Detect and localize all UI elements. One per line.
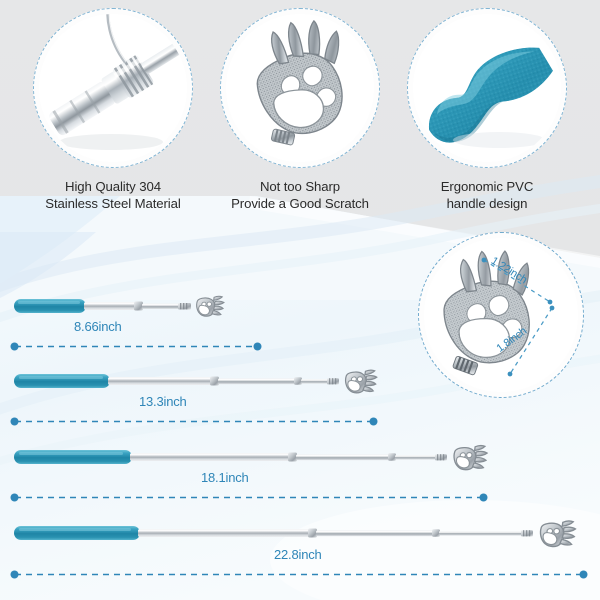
backscratcher-1-illustration xyxy=(14,286,266,326)
feature-circle-row: High Quality 304 Stainless Steel Materia… xyxy=(0,8,600,223)
scratcher-3-length-label: 18.1inch xyxy=(201,470,249,485)
backscratcher-2 xyxy=(14,361,382,401)
scratcher-1-length-label: 8.66inch xyxy=(74,319,122,334)
scratcher-2-length-label: 13.3inch xyxy=(139,394,187,409)
measure-line-4-svg xyxy=(10,570,588,579)
measure-line-1-svg xyxy=(10,342,262,351)
measure-line-2-svg xyxy=(10,417,378,426)
backscratcher-1 xyxy=(14,286,266,326)
scratcher-2-measure-line xyxy=(10,417,378,426)
feature-label-2: Not too Sharp Provide a Good Scratch xyxy=(207,178,393,213)
claw-dimensions-circle: 1.22inch 1.8inch xyxy=(418,232,584,398)
feature-label-2-line2: Provide a Good Scratch xyxy=(231,196,369,211)
feature-stainless-steel: High Quality 304 Stainless Steel Materia… xyxy=(20,8,206,213)
backscratcher-3-illustration xyxy=(14,437,492,477)
feature-label-1-line2: Stainless Steel Material xyxy=(45,196,180,211)
bear-claw-head-photo xyxy=(226,14,374,162)
scratcher-3-measure-line xyxy=(10,493,488,502)
feature-circle-3 xyxy=(407,8,567,168)
feature-not-too-sharp: Not too Sharp Provide a Good Scratch xyxy=(207,8,393,213)
scratcher-1-measure-line xyxy=(10,342,262,351)
feature-circle-1 xyxy=(33,8,193,168)
feature-label-3-line1: Ergonomic PVC xyxy=(441,179,534,194)
feature-label-3-line2: handle design xyxy=(447,196,528,211)
pvc-foam-handle-photo xyxy=(413,14,561,162)
feature-label-2-line1: Not too Sharp xyxy=(260,179,340,194)
telescoping-steel-rod-photo xyxy=(39,14,187,162)
scratcher-4-measure-line xyxy=(10,570,588,579)
feature-label-1-line1: High Quality 304 xyxy=(65,179,161,194)
feature-label-1: High Quality 304 Stainless Steel Materia… xyxy=(20,178,206,213)
bear-claw-illustration xyxy=(226,14,374,162)
backscratcher-2-illustration xyxy=(14,361,382,401)
feature-label-3: Ergonomic PVC handle design xyxy=(394,178,580,213)
measure-line-3-svg xyxy=(10,493,488,502)
scratcher-4-length-label: 22.8inch xyxy=(274,547,322,562)
feature-circle-2 xyxy=(220,8,380,168)
infographic-canvas: High Quality 304 Stainless Steel Materia… xyxy=(0,0,600,600)
pvc-handle-illustration xyxy=(413,14,561,162)
backscratcher-3 xyxy=(14,437,492,477)
steel-rod-illustration xyxy=(39,14,187,162)
feature-ergonomic-handle: Ergonomic PVC handle design xyxy=(394,8,580,213)
